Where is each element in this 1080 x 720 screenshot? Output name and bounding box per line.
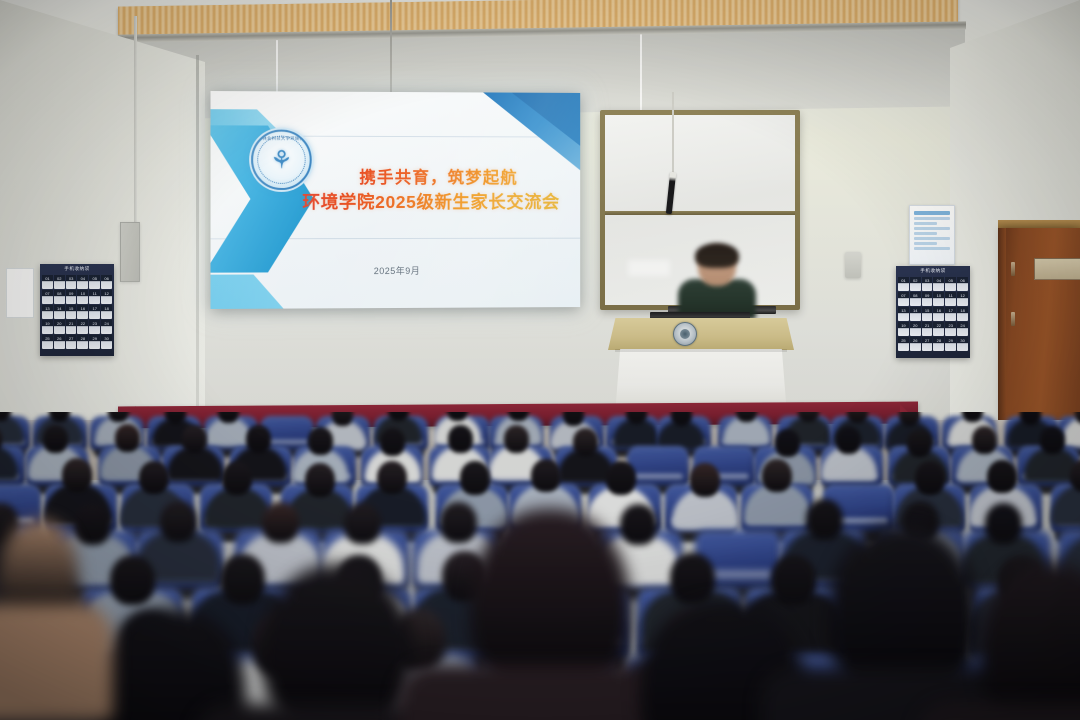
pocket-cell: 21 (922, 322, 933, 336)
pocket-number: 26 (910, 338, 921, 343)
attendee-head (620, 504, 657, 545)
pocket-cell: 17 (89, 305, 100, 319)
pocket-number: 02 (910, 278, 921, 283)
pocket-board-title: 手机收纳袋 (896, 268, 970, 274)
attendee-head (440, 502, 477, 543)
presenter (680, 246, 754, 316)
attendee-head (139, 461, 169, 495)
pocket-number: 18 (101, 306, 112, 311)
podium-edge (615, 349, 787, 352)
pocket-number: 22 (77, 321, 88, 326)
attendee-head (690, 463, 720, 497)
pocket-number: 06 (101, 276, 112, 281)
pull-cord[interactable] (672, 92, 674, 174)
pocket-number: 15 (922, 308, 933, 313)
pocket-number: 29 (945, 338, 956, 343)
attendee-head (308, 427, 333, 455)
door-window (1034, 258, 1080, 280)
notice-line (914, 237, 950, 240)
pocket-cell: 09 (66, 290, 77, 304)
pocket-cell: 24 (957, 322, 968, 336)
pocket-number: 16 (77, 306, 88, 311)
pocket-number: 11 (89, 291, 100, 296)
pocket-cell: 05 (89, 275, 100, 289)
pocket-cell: 14 (54, 305, 65, 319)
pocket-number: 05 (89, 276, 100, 281)
pocket-cell: 26 (54, 335, 65, 349)
phone-pocket-board-right: 手机收纳袋 0102030405060708091011121314151617… (896, 266, 970, 358)
attendee-head (836, 426, 861, 454)
pocket-cell: 24 (101, 320, 112, 334)
seal-emblem-icon: ⚘ (270, 148, 293, 173)
notice-line (914, 232, 937, 235)
attendee-head (987, 460, 1017, 494)
pocket-cell: 10 (77, 290, 88, 304)
pocket-cell: 27 (66, 335, 77, 349)
attendee-head (220, 554, 265, 604)
pocket-cell: 12 (957, 292, 968, 306)
pocket-cell: 02 (910, 277, 921, 291)
pocket-cell: 30 (957, 337, 968, 351)
foreground-attendee-shoulders (917, 702, 1080, 720)
notice-line (914, 211, 950, 215)
pocket-cell: 16 (933, 307, 944, 321)
attendee-head (74, 504, 111, 545)
electrical-box (120, 222, 140, 282)
pocket-number: 28 (77, 336, 88, 341)
wall-paper-note (6, 268, 34, 318)
pocket-number: 24 (101, 321, 112, 326)
notice-line (914, 217, 950, 220)
whiteboard-divider (605, 211, 795, 215)
pocket-cell: 17 (945, 307, 956, 321)
attendee-head (246, 425, 271, 453)
pocket-number: 08 (910, 293, 921, 298)
pocket-number: 20 (54, 321, 65, 326)
pocket-cell: 07 (42, 290, 53, 304)
attendee-head (563, 412, 584, 426)
pocket-cell: 14 (910, 307, 921, 321)
wall-speaker-box (845, 252, 861, 278)
pocket-number: 19 (42, 321, 53, 326)
pocket-cell: 04 (933, 277, 944, 291)
pocket-number: 25 (42, 336, 53, 341)
attendee-head (1020, 412, 1041, 425)
pocket-cell: 08 (910, 292, 921, 306)
pocket-cell: 01 (42, 275, 53, 289)
attendee-head (972, 426, 997, 454)
lecture-hall-photo: 手机收纳袋 0102030405060708091011121314151617… (0, 0, 1080, 720)
pocket-cell: 23 (945, 322, 956, 336)
pocket-number: 05 (945, 278, 956, 283)
pocket-number: 13 (42, 306, 53, 311)
notice-poster (909, 205, 955, 265)
pocket-number: 21 (66, 321, 77, 326)
pocket-cell: 30 (101, 335, 112, 349)
pocket-number: 17 (89, 306, 100, 311)
pocket-cell: 27 (922, 337, 933, 351)
pocket-cell: 29 (89, 335, 100, 349)
attendee-head (62, 458, 92, 492)
pocket-cell: 03 (66, 275, 77, 289)
whiteboard-glare (628, 260, 670, 276)
presenter-glasses-icon (700, 262, 734, 270)
pocket-number: 27 (66, 336, 77, 341)
door-hinge (1011, 312, 1015, 326)
pocket-number: 11 (945, 293, 956, 298)
pocket-cell: 28 (77, 335, 88, 349)
attendee-head (670, 553, 715, 603)
pocket-cell: 09 (922, 292, 933, 306)
attendee-head (504, 425, 529, 453)
pocket-number: 23 (945, 323, 956, 328)
pocket-number: 29 (89, 336, 100, 341)
seal-text: 中南林业科技大学环境科学与工程学院 (253, 136, 310, 142)
attendee-head (762, 459, 792, 493)
pocket-cell: 25 (898, 337, 909, 351)
attendee-head (182, 425, 207, 453)
pocket-number: 08 (54, 291, 65, 296)
slide-title: 携手共育，筑梦起航 (296, 164, 581, 188)
attendee-head (448, 425, 473, 453)
pocket-number: 13 (898, 308, 909, 313)
screen-hanger (390, 0, 392, 94)
pocket-number: 03 (922, 278, 933, 283)
pocket-cell: 05 (945, 277, 956, 291)
pocket-number: 10 (77, 291, 88, 296)
pocket-number: 16 (933, 308, 944, 313)
pocket-cell: 13 (898, 307, 909, 321)
pocket-number: 26 (54, 336, 65, 341)
pocket-cell: 04 (77, 275, 88, 289)
pocket-cell: 20 (910, 322, 921, 336)
audience-seating (0, 412, 1080, 720)
attendee-head (771, 555, 816, 605)
pocket-grid: 0102030405060708091011121314151617181920… (896, 277, 970, 351)
pocket-cell: 06 (957, 277, 968, 291)
pocket-cell: 11 (89, 290, 100, 304)
pocket-cell: 19 (42, 320, 53, 334)
door-jamb (998, 228, 1006, 428)
projection-screen: 中南林业科技大学环境科学与工程学院 ⚘ 携手共育，筑梦起航 环境学院2025级新… (211, 91, 581, 309)
pocket-number: 07 (42, 291, 53, 296)
pocket-number: 18 (957, 308, 968, 313)
pocket-number: 14 (54, 306, 65, 311)
attendee-head (344, 503, 381, 544)
attendee-head (110, 555, 155, 605)
attendee-head (222, 462, 252, 496)
attendee-head (573, 428, 598, 456)
pocket-cell: 02 (54, 275, 65, 289)
attendee-head (606, 461, 636, 495)
door-hinge (1011, 262, 1015, 276)
notice-line (914, 222, 937, 225)
left-wall (0, 0, 205, 470)
attendee-head (380, 428, 405, 456)
pocket-cell: 28 (933, 337, 944, 351)
attendee-head (775, 429, 800, 457)
pocket-number: 12 (957, 293, 968, 298)
pocket-number: 09 (66, 291, 77, 296)
pocket-number: 02 (54, 276, 65, 281)
pocket-number: 10 (933, 293, 944, 298)
attendee-head (262, 502, 299, 543)
pocket-cell: 19 (898, 322, 909, 336)
attendee-head (1040, 426, 1065, 454)
attendee-head (377, 461, 407, 495)
foreground-attendee-head (262, 564, 412, 720)
pocket-cell: 23 (89, 320, 100, 334)
pocket-number: 09 (922, 293, 933, 298)
pocket-number: 07 (898, 293, 909, 298)
pocket-number: 04 (77, 276, 88, 281)
pocket-number: 19 (898, 323, 909, 328)
pocket-number: 24 (957, 323, 968, 328)
pocket-number: 22 (933, 323, 944, 328)
pocket-cell: 11 (945, 292, 956, 306)
pocket-number: 30 (101, 336, 112, 341)
pocket-number: 28 (933, 338, 944, 343)
attendee-head (915, 461, 945, 495)
notice-line (914, 227, 950, 230)
attendee-head (115, 424, 140, 452)
slide-date: 2025年9月 (211, 263, 581, 277)
pocket-cell: 12 (101, 290, 112, 304)
podium-crest-icon (673, 322, 697, 346)
pocket-number: 15 (66, 306, 77, 311)
pocket-cell: 03 (922, 277, 933, 291)
pocket-grid: 0102030405060708091011121314151617181920… (40, 275, 114, 349)
ceiling-seam (640, 30, 642, 120)
notice-line (914, 242, 937, 245)
pocket-number: 03 (66, 276, 77, 281)
pocket-cell: 25 (42, 335, 53, 349)
pocket-number: 27 (922, 338, 933, 343)
attendee-head (460, 461, 490, 495)
pocket-cell: 26 (910, 337, 921, 351)
slide-subtitle: 环境学院2025级新生家长交流会 (281, 189, 580, 214)
pocket-number: 06 (957, 278, 968, 283)
pocket-number: 21 (922, 323, 933, 328)
auditorium-seat (627, 446, 689, 486)
pocket-cell: 13 (42, 305, 53, 319)
pocket-cell: 07 (898, 292, 909, 306)
pocket-cell: 21 (66, 320, 77, 334)
attendee-head (531, 459, 561, 493)
pocket-number: 01 (42, 276, 53, 281)
pocket-number: 14 (910, 308, 921, 313)
notice-line (914, 247, 950, 250)
pocket-number: 30 (957, 338, 968, 343)
pocket-cell: 08 (54, 290, 65, 304)
foreground-attendee-shoulders (0, 604, 113, 720)
pocket-cell: 16 (77, 305, 88, 319)
pocket-cell: 15 (922, 307, 933, 321)
attendee-head (160, 501, 197, 542)
pocket-number: 25 (898, 338, 909, 343)
pocket-number: 23 (89, 321, 100, 326)
pocket-number: 01 (898, 278, 909, 283)
podium-top (608, 318, 794, 350)
wall-conduit (134, 16, 137, 226)
pocket-cell: 18 (101, 305, 112, 319)
pocket-cell: 20 (54, 320, 65, 334)
pocket-cell: 22 (933, 322, 944, 336)
pocket-cell: 06 (101, 275, 112, 289)
pocket-board-title: 手机收纳袋 (40, 266, 114, 272)
attendee-head (985, 503, 1022, 544)
attendee-head (907, 429, 932, 457)
pocket-cell: 01 (898, 277, 909, 291)
phone-pocket-board-left: 手机收纳袋 0102030405060708091011121314151617… (40, 264, 114, 356)
pocket-cell: 22 (77, 320, 88, 334)
attendee-head (305, 463, 335, 497)
pocket-cell: 10 (933, 292, 944, 306)
pocket-cell: 18 (957, 307, 968, 321)
pocket-number: 04 (933, 278, 944, 283)
pocket-cell: 29 (945, 337, 956, 351)
attendee-head (43, 425, 68, 453)
pocket-number: 12 (101, 291, 112, 296)
pocket-cell: 15 (66, 305, 77, 319)
pocket-number: 20 (910, 323, 921, 328)
attendee-head (806, 499, 843, 540)
pocket-number: 17 (945, 308, 956, 313)
